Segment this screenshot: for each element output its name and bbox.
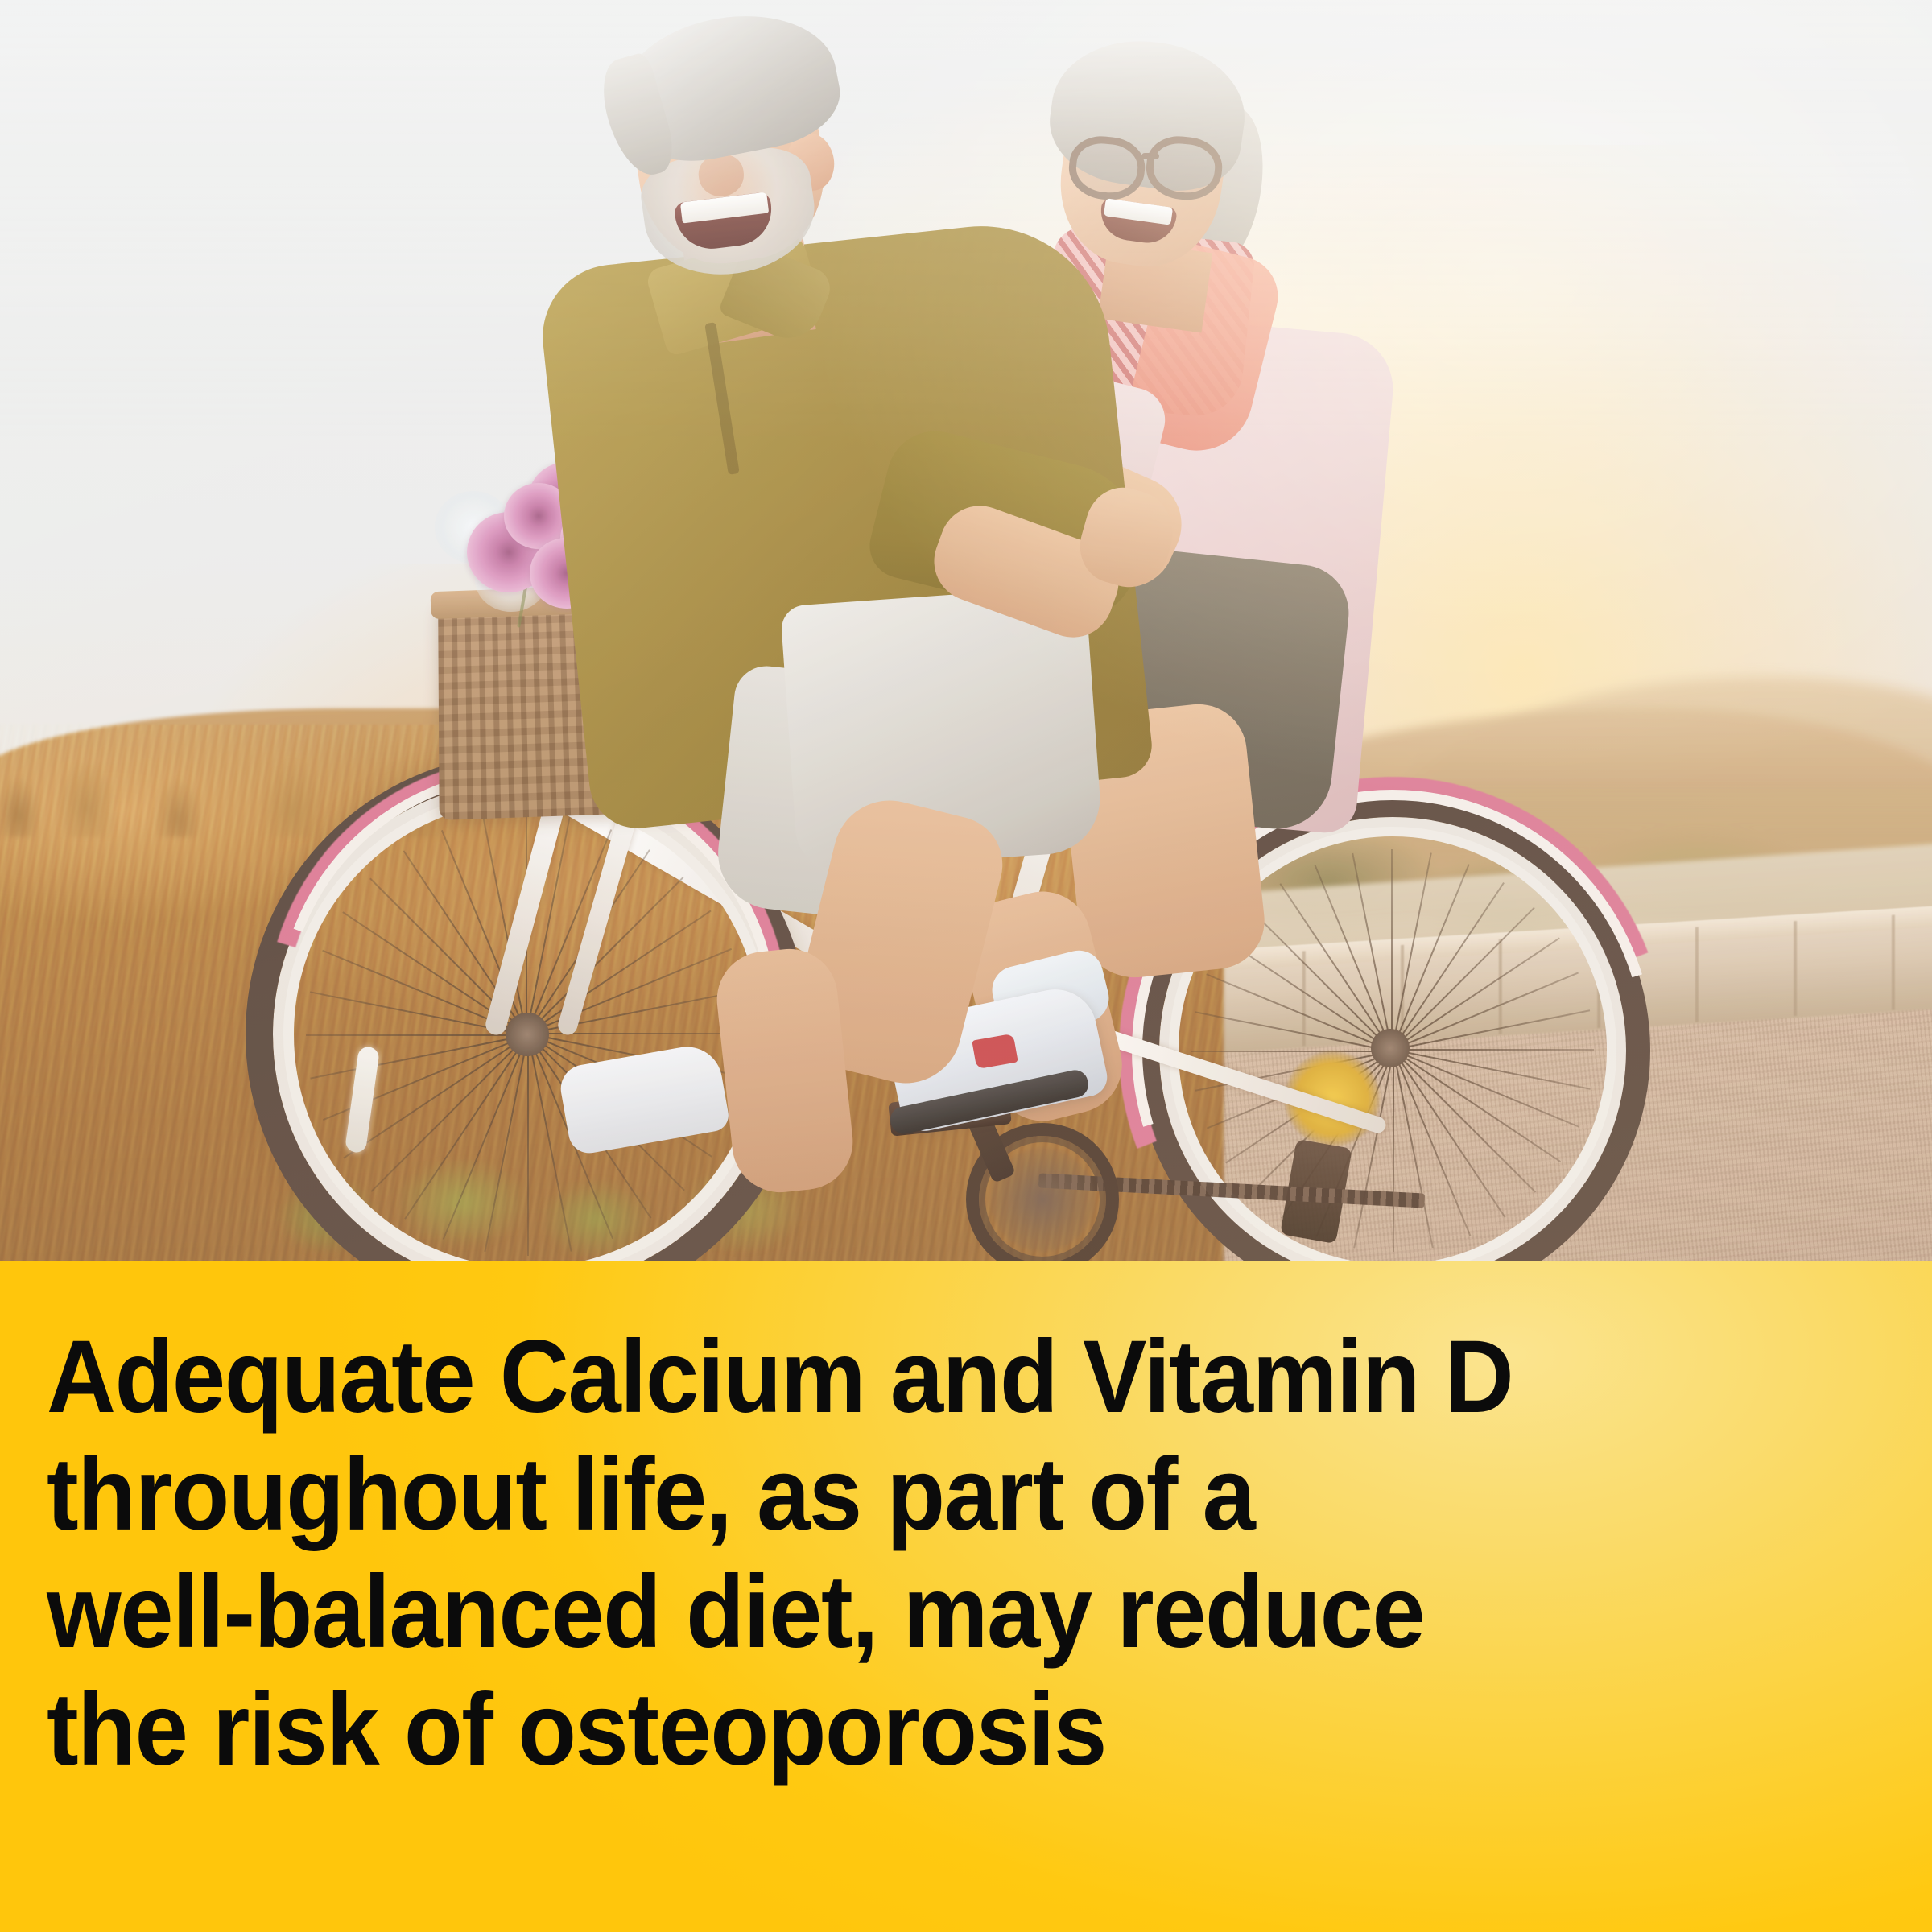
riders — [0, 0, 1932, 1261]
health-claim-text: Adequate Calcium and Vitamin D throughou… — [47, 1319, 1769, 1789]
hero-photo — [0, 0, 1932, 1261]
man-shoe — [557, 1041, 731, 1156]
sunglasses-bridge — [1141, 153, 1159, 159]
poster-canvas: Adequate Calcium and Vitamin D throughou… — [0, 0, 1932, 1932]
caption-band: Adequate Calcium and Vitamin D throughou… — [0, 1261, 1932, 1932]
